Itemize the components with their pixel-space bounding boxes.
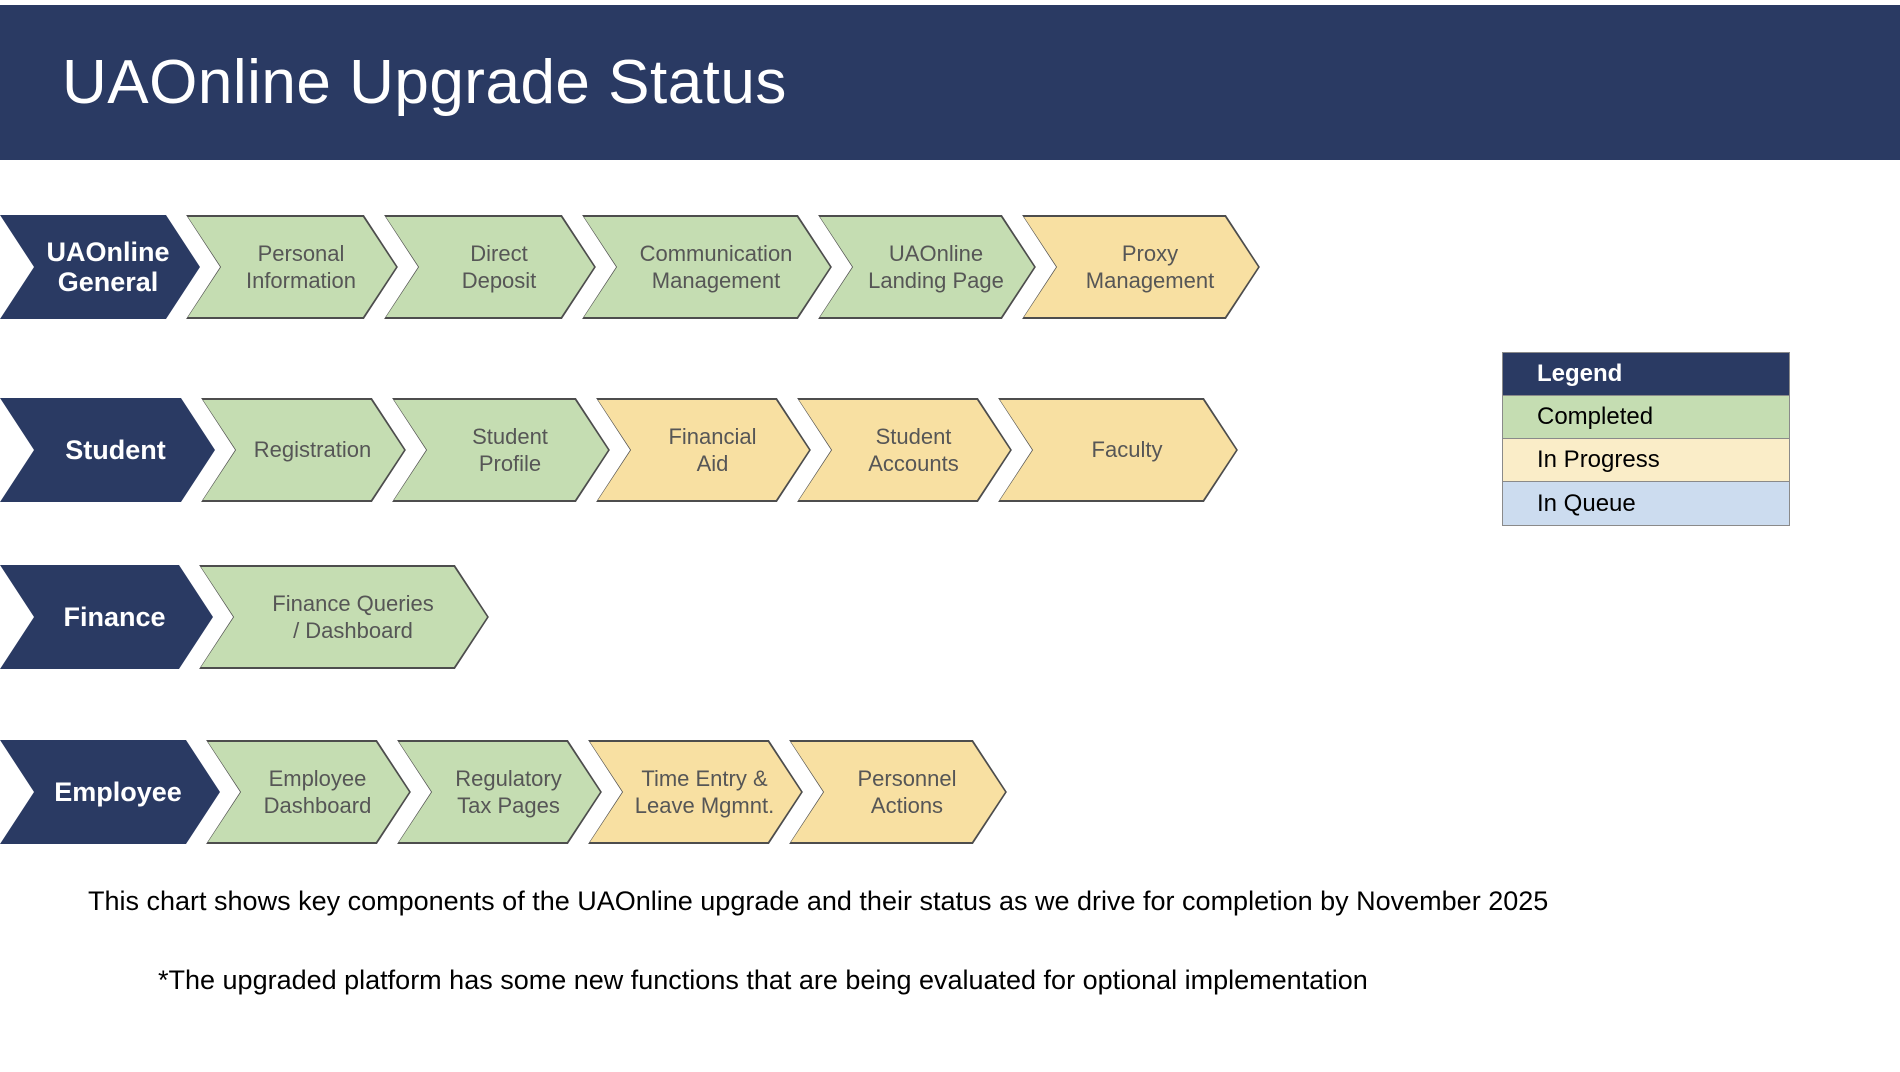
process-step: Financial Aid [596,398,811,502]
process-step: Direct Deposit [384,215,596,319]
slide-header-bar: UAOnline Upgrade Status [0,5,1900,160]
process-step: Personnel Actions [789,740,1007,844]
legend-item-completed: Completed [1503,396,1789,439]
process-step: Communication Management [582,215,832,319]
process-step: Finance Queries / Dashboard [199,565,489,669]
process-row-employee: EmployeeEmployee DashboardRegulatory Tax… [0,740,1007,844]
step-label: Finance Queries / Dashboard [272,590,433,645]
legend-header: Legend [1503,353,1789,396]
step-label: Student Accounts [868,423,959,478]
process-step: Student Accounts [797,398,1012,502]
category-chip-finance: Finance [0,565,213,669]
category-chip-label: Employee [54,777,182,807]
step-label: UAOnline Landing Page [868,240,1004,295]
legend-item-label: In Progress [1537,446,1660,474]
step-label: Registration [254,436,371,464]
process-step: Faculty [998,398,1238,502]
process-row-uaonline-general: UAOnline GeneralPersonal InformationDire… [0,215,1260,319]
process-step: Regulatory Tax Pages [397,740,602,844]
step-label: Time Entry & Leave Mgmnt. [635,765,774,820]
category-chip-employee: Employee [0,740,220,844]
process-step: Registration [201,398,406,502]
step-label: Personal Information [246,240,356,295]
process-step: Proxy Management [1022,215,1260,319]
category-chip-label: UAOnline General [46,237,169,297]
legend-item-label: Completed [1537,403,1653,431]
category-chip-student: Student [0,398,215,502]
step-label: Faculty [1092,436,1163,464]
process-step: Student Profile [392,398,610,502]
step-label: Employee Dashboard [264,765,372,820]
category-chip-label: Finance [63,602,165,632]
step-label: Regulatory Tax Pages [455,765,561,820]
step-label: Student Profile [472,423,548,478]
step-label: Financial Aid [668,423,756,478]
page-title: UAOnline Upgrade Status [62,52,787,114]
category-chip-uaonline-general: UAOnline General [0,215,200,319]
process-row-finance: FinanceFinance Queries / Dashboard [0,565,489,669]
process-step: Time Entry & Leave Mgmnt. [588,740,803,844]
process-step: UAOnline Landing Page [818,215,1036,319]
process-step: Employee Dashboard [206,740,411,844]
legend-item-in-queue: In Queue [1503,482,1789,525]
legend-item-label: In Queue [1537,490,1636,518]
caption-main: This chart shows key components of the U… [88,886,1548,917]
step-label: Personnel Actions [857,765,956,820]
caption-note: *The upgraded platform has some new func… [158,965,1368,996]
process-step: Personal Information [186,215,398,319]
step-label: Direct Deposit [462,240,537,295]
legend-box: Legend Completed In Progress In Queue [1502,352,1790,526]
step-label: Communication Management [640,240,793,295]
step-label: Proxy Management [1086,240,1214,295]
legend-header-label: Legend [1537,360,1622,388]
category-chip-label: Student [65,435,166,465]
process-row-student: StudentRegistrationStudent ProfileFinanc… [0,398,1238,502]
legend-item-in-progress: In Progress [1503,439,1789,482]
